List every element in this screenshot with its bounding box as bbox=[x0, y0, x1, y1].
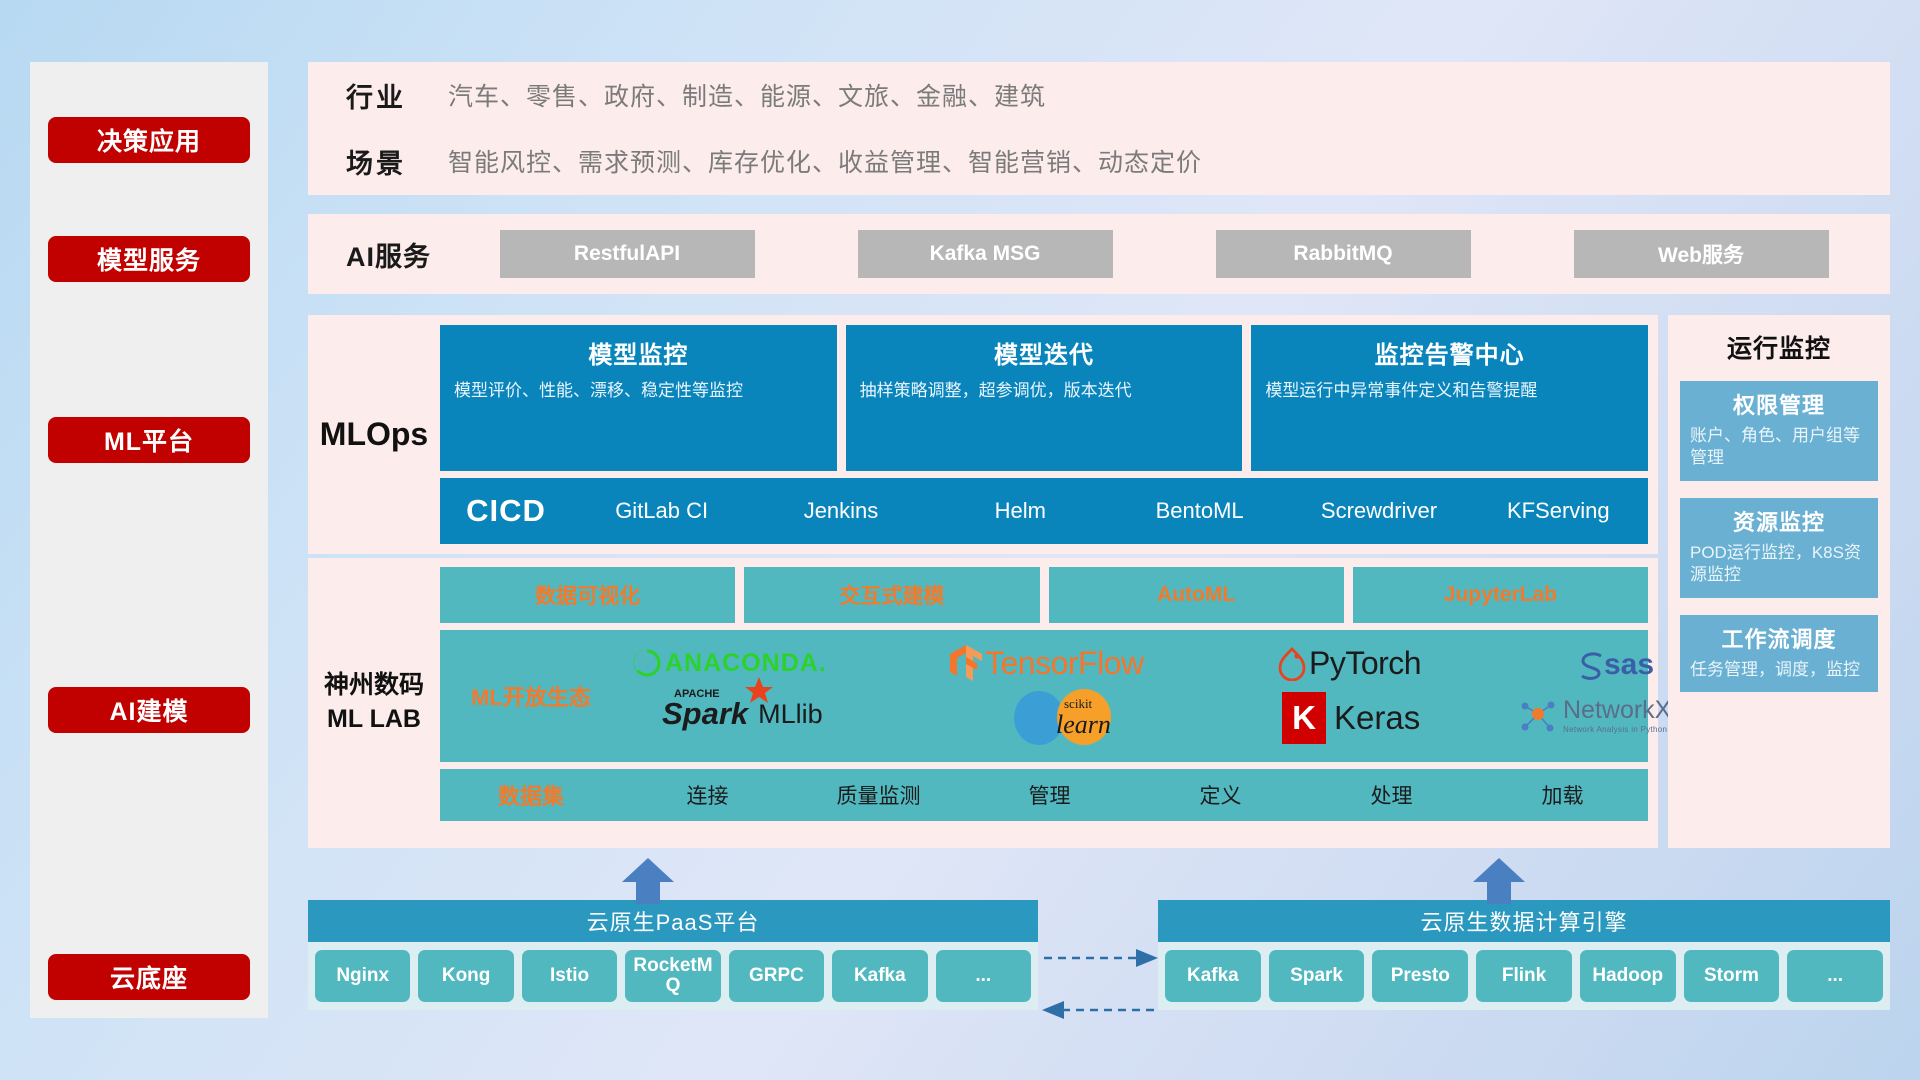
run-monitoring-title: 运行监控 bbox=[1680, 329, 1878, 365]
cloud-chip-rocketmq[interactable]: RocketMQ bbox=[625, 950, 720, 1002]
networkx-tagline: Network Analysis in Python bbox=[1563, 725, 1671, 734]
tensorflow-icon bbox=[949, 644, 983, 682]
dataset-item-manage[interactable]: 管理 bbox=[964, 780, 1135, 810]
dataset-row: 数据集 连接 质量监测 管理 定义 处理 加载 bbox=[440, 769, 1648, 821]
card-title: 工作流调度 bbox=[1690, 622, 1868, 654]
ai-service-items: RestfulAPI Kafka MSG RabbitMQ Web服务 bbox=[448, 230, 1890, 278]
mlops-panel: MLOps 模型监控 模型评价、性能、漂移、稳定性等监控 模型迭代 抽样策略调整… bbox=[308, 315, 1658, 554]
dataset-item-define[interactable]: 定义 bbox=[1135, 780, 1306, 810]
ml-ecosystem-title: ML开放生态 bbox=[440, 680, 622, 712]
scenario-row: 场景 智能风控、需求预测、库存优化、收益管理、智能营销、动态定价 bbox=[308, 128, 1890, 194]
rail-item-label: 模型服务 bbox=[97, 241, 201, 277]
pytorch-logo: PyTorch bbox=[1277, 645, 1421, 682]
svg-text:learn: learn bbox=[1056, 710, 1111, 739]
decision-apps-panel: 行业 汽车、零售、政府、制造、能源、文旅、金融、建筑 场景 智能风控、需求预测、… bbox=[308, 62, 1890, 195]
run-monitoring-panel: 运行监控 权限管理 账户、角色、用户组等管理 资源监控 POD运行监控，K8S资… bbox=[1668, 315, 1890, 848]
cloud-chip-nginx[interactable]: Nginx bbox=[315, 950, 410, 1002]
keras-wordmark: Keras bbox=[1334, 699, 1420, 737]
card-desc: 模型评价、性能、漂移、稳定性等监控 bbox=[454, 379, 823, 402]
cicd-item-jenkins[interactable]: Jenkins bbox=[751, 500, 930, 522]
scikit-learn-icon: scikit learn bbox=[1012, 688, 1127, 746]
spark-mllib-logo: APACHE Spark MLlib bbox=[662, 696, 823, 732]
anaconda-icon bbox=[632, 648, 662, 678]
ml-lab-label-line1: 神州数码 bbox=[324, 669, 424, 703]
tool-jupyterlab[interactable]: JupyterLab bbox=[1353, 567, 1648, 623]
tool-automl[interactable]: AutoML bbox=[1049, 567, 1344, 623]
rail-item-decision-apps[interactable]: 决策应用 bbox=[48, 117, 250, 163]
sas-logo: sas bbox=[1577, 648, 1654, 682]
cloud-chip-kong[interactable]: Kong bbox=[418, 950, 513, 1002]
dataset-item-connect[interactable]: 连接 bbox=[622, 780, 793, 810]
cloud-chip-istio[interactable]: Istio bbox=[522, 950, 617, 1002]
ml-ecosystem-row: ML开放生态 ANACONDA. bbox=[440, 630, 1648, 762]
card-desc: 抽样策略调整，超参调优，版本迭代 bbox=[860, 379, 1229, 402]
spark-apache-label: APACHE bbox=[674, 688, 720, 700]
card-title: 资源监控 bbox=[1690, 505, 1868, 537]
ai-service-label: AI服务 bbox=[308, 235, 448, 274]
ml-lab-tools: 数据可视化 交互式建模 AutoML JupyterLab bbox=[440, 567, 1648, 623]
keras-mark-letter: K bbox=[1292, 699, 1316, 737]
mlops-body: 模型监控 模型评价、性能、漂移、稳定性等监控 模型迭代 抽样策略调整，超参调优，… bbox=[440, 315, 1658, 554]
spark-wordmark: Spark bbox=[662, 696, 748, 732]
ai-service-item-restfulapi[interactable]: RestfulAPI bbox=[500, 230, 755, 278]
keras-logo: K Keras bbox=[1282, 692, 1420, 744]
tool-interactive-modeling[interactable]: 交互式建模 bbox=[744, 567, 1039, 623]
engine-chip-kafka[interactable]: Kafka bbox=[1165, 950, 1261, 1002]
tool-data-visualization[interactable]: 数据可视化 bbox=[440, 567, 735, 623]
tensorflow-wordmark: TensorFlow bbox=[985, 645, 1144, 682]
pytorch-wordmark: PyTorch bbox=[1309, 645, 1421, 682]
svg-text:scikit: scikit bbox=[1064, 696, 1093, 711]
rail-item-cloud-base[interactable]: 云底座 bbox=[48, 954, 250, 1000]
engine-chip-more[interactable]: ... bbox=[1787, 950, 1883, 1002]
spark-star-icon bbox=[744, 676, 774, 706]
engine-chip-storm[interactable]: Storm bbox=[1684, 950, 1780, 1002]
cloud-data-engine-header: 云原生数据计算引擎 bbox=[1158, 900, 1890, 942]
ai-service-item-kafka-msg[interactable]: Kafka MSG bbox=[858, 230, 1113, 278]
left-rail: 决策应用 模型服务 ML平台 AI建模 云底座 bbox=[30, 62, 268, 1018]
ai-service-panel: AI服务 RestfulAPI Kafka MSG RabbitMQ Web服务 bbox=[308, 214, 1890, 294]
industry-values: 汽车、零售、政府、制造、能源、文旅、金融、建筑 bbox=[448, 77, 1046, 113]
networkx-logo: NetworkX Network Analysis in Python bbox=[1517, 696, 1671, 736]
rail-item-label: AI建模 bbox=[109, 692, 188, 728]
ml-lab-panel: 神州数码 ML LAB 数据可视化 交互式建模 AutoML JupyterLa… bbox=[308, 558, 1658, 848]
card-desc: 任务管理，调度，监控 bbox=[1690, 659, 1868, 681]
dataset-title: 数据集 bbox=[440, 779, 622, 811]
cicd-item-kfserving[interactable]: KFServing bbox=[1469, 500, 1648, 522]
ai-service-item-rabbitmq[interactable]: RabbitMQ bbox=[1216, 230, 1471, 278]
up-arrow-icon bbox=[1471, 856, 1527, 904]
engine-chip-hadoop[interactable]: Hadoop bbox=[1580, 950, 1676, 1002]
card-desc: 账户、角色、用户组等管理 bbox=[1690, 425, 1868, 470]
ml-lab-body: 数据可视化 交互式建模 AutoML JupyterLab ML开放生态 ANA… bbox=[440, 558, 1658, 848]
anaconda-logo: ANACONDA. bbox=[632, 648, 827, 678]
scikit-learn-logo: scikit learn bbox=[1012, 688, 1127, 746]
cloud-chip-kafka[interactable]: Kafka bbox=[832, 950, 927, 1002]
rail-item-ai-modeling[interactable]: AI建模 bbox=[48, 687, 250, 733]
ml-lab-label-line2: ML LAB bbox=[327, 703, 421, 737]
ml-lab-label: 神州数码 ML LAB bbox=[308, 558, 440, 848]
card-title: 权限管理 bbox=[1690, 388, 1868, 420]
rail-item-label: 决策应用 bbox=[97, 122, 201, 158]
card-desc: POD运行监控，K8S资源监控 bbox=[1690, 542, 1868, 587]
dataset-item-quality-monitoring[interactable]: 质量监测 bbox=[793, 780, 964, 810]
mlops-card-model-monitoring[interactable]: 模型监控 模型评价、性能、漂移、稳定性等监控 bbox=[440, 325, 837, 471]
card-title: 模型迭代 bbox=[860, 335, 1229, 370]
mlops-label: MLOps bbox=[308, 315, 440, 554]
bidirectional-link-arrows bbox=[1040, 938, 1160, 1030]
sas-wordmark: sas bbox=[1604, 648, 1654, 682]
cloud-chip-more[interactable]: ... bbox=[936, 950, 1031, 1002]
up-arrow-icon bbox=[620, 856, 676, 904]
engine-chip-flink[interactable]: Flink bbox=[1476, 950, 1572, 1002]
cicd-title: CICD bbox=[440, 493, 572, 529]
ml-ecosystem-logos: ANACONDA. TensorFlow bbox=[622, 630, 1648, 762]
cloud-data-engine-chips: Kafka Spark Presto Flink Hadoop Storm ..… bbox=[1158, 942, 1890, 1010]
engine-chip-spark[interactable]: Spark bbox=[1269, 950, 1365, 1002]
mlops-card-alert-center[interactable]: 监控告警中心 模型运行中异常事件定义和告警提醒 bbox=[1251, 325, 1648, 471]
mlops-cards: 模型监控 模型评价、性能、漂移、稳定性等监控 模型迭代 抽样策略调整，超参调优，… bbox=[440, 325, 1648, 471]
cicd-item-helm[interactable]: Helm bbox=[931, 500, 1110, 522]
tensorflow-logo: TensorFlow bbox=[949, 644, 1144, 682]
cicd-items: GitLab CI Jenkins Helm BentoML Screwdriv… bbox=[572, 500, 1648, 522]
rail-item-label: ML平台 bbox=[104, 422, 194, 458]
monitor-card-permission-management[interactable]: 权限管理 账户、角色、用户组等管理 bbox=[1680, 381, 1878, 481]
monitor-card-workflow-scheduling[interactable]: 工作流调度 任务管理，调度，监控 bbox=[1680, 615, 1878, 692]
industry-row: 行业 汽车、零售、政府、制造、能源、文旅、金融、建筑 bbox=[308, 62, 1890, 128]
rail-item-model-service[interactable]: 模型服务 bbox=[48, 236, 250, 282]
engine-chip-presto[interactable]: Presto bbox=[1372, 950, 1468, 1002]
cloud-paas-header: 云原生PaaS平台 bbox=[308, 900, 1038, 942]
sas-icon bbox=[1577, 650, 1607, 680]
cloud-paas-group: 云原生PaaS平台 Nginx Kong Istio RocketMQ GRPC… bbox=[308, 900, 1038, 1010]
cicd-item-bentoml[interactable]: BentoML bbox=[1110, 500, 1289, 522]
monitor-card-resource-monitoring[interactable]: 资源监控 POD运行监控，K8S资源监控 bbox=[1680, 498, 1878, 598]
industry-label: 行业 bbox=[308, 76, 448, 115]
cicd-bar: CICD GitLab CI Jenkins Helm BentoML Scre… bbox=[440, 478, 1648, 544]
networkx-wordmark: NetworkX bbox=[1563, 698, 1671, 723]
cloud-data-engine-group: 云原生数据计算引擎 Kafka Spark Presto Flink Hadoo… bbox=[1158, 900, 1890, 1010]
pytorch-icon bbox=[1277, 647, 1307, 681]
card-title: 模型监控 bbox=[454, 335, 823, 370]
anaconda-wordmark: ANACONDA. bbox=[665, 649, 827, 678]
ai-service-item-web-service[interactable]: Web服务 bbox=[1574, 230, 1829, 278]
cicd-item-gitlab-ci[interactable]: GitLab CI bbox=[572, 500, 751, 522]
dataset-item-process[interactable]: 处理 bbox=[1306, 780, 1477, 810]
cloud-chip-grpc[interactable]: GRPC bbox=[729, 950, 824, 1002]
dataset-items: 连接 质量监测 管理 定义 处理 加载 bbox=[622, 780, 1648, 810]
card-desc: 模型运行中异常事件定义和告警提醒 bbox=[1265, 379, 1634, 402]
networkx-icon bbox=[1517, 696, 1559, 736]
dataset-item-load[interactable]: 加载 bbox=[1477, 780, 1648, 810]
cicd-item-screwdriver[interactable]: Screwdriver bbox=[1289, 500, 1468, 522]
card-title: 监控告警中心 bbox=[1265, 335, 1634, 370]
scenario-label: 场景 bbox=[308, 142, 448, 181]
rail-item-label: 云底座 bbox=[110, 959, 188, 995]
rail-item-ml-platform[interactable]: ML平台 bbox=[48, 417, 250, 463]
cloud-paas-chips: Nginx Kong Istio RocketMQ GRPC Kafka ... bbox=[308, 942, 1038, 1010]
mlops-card-model-iteration[interactable]: 模型迭代 抽样策略调整，超参调优，版本迭代 bbox=[846, 325, 1243, 471]
scenario-values: 智能风控、需求预测、库存优化、收益管理、智能营销、动态定价 bbox=[448, 143, 1202, 179]
keras-mark-icon: K bbox=[1282, 692, 1326, 744]
